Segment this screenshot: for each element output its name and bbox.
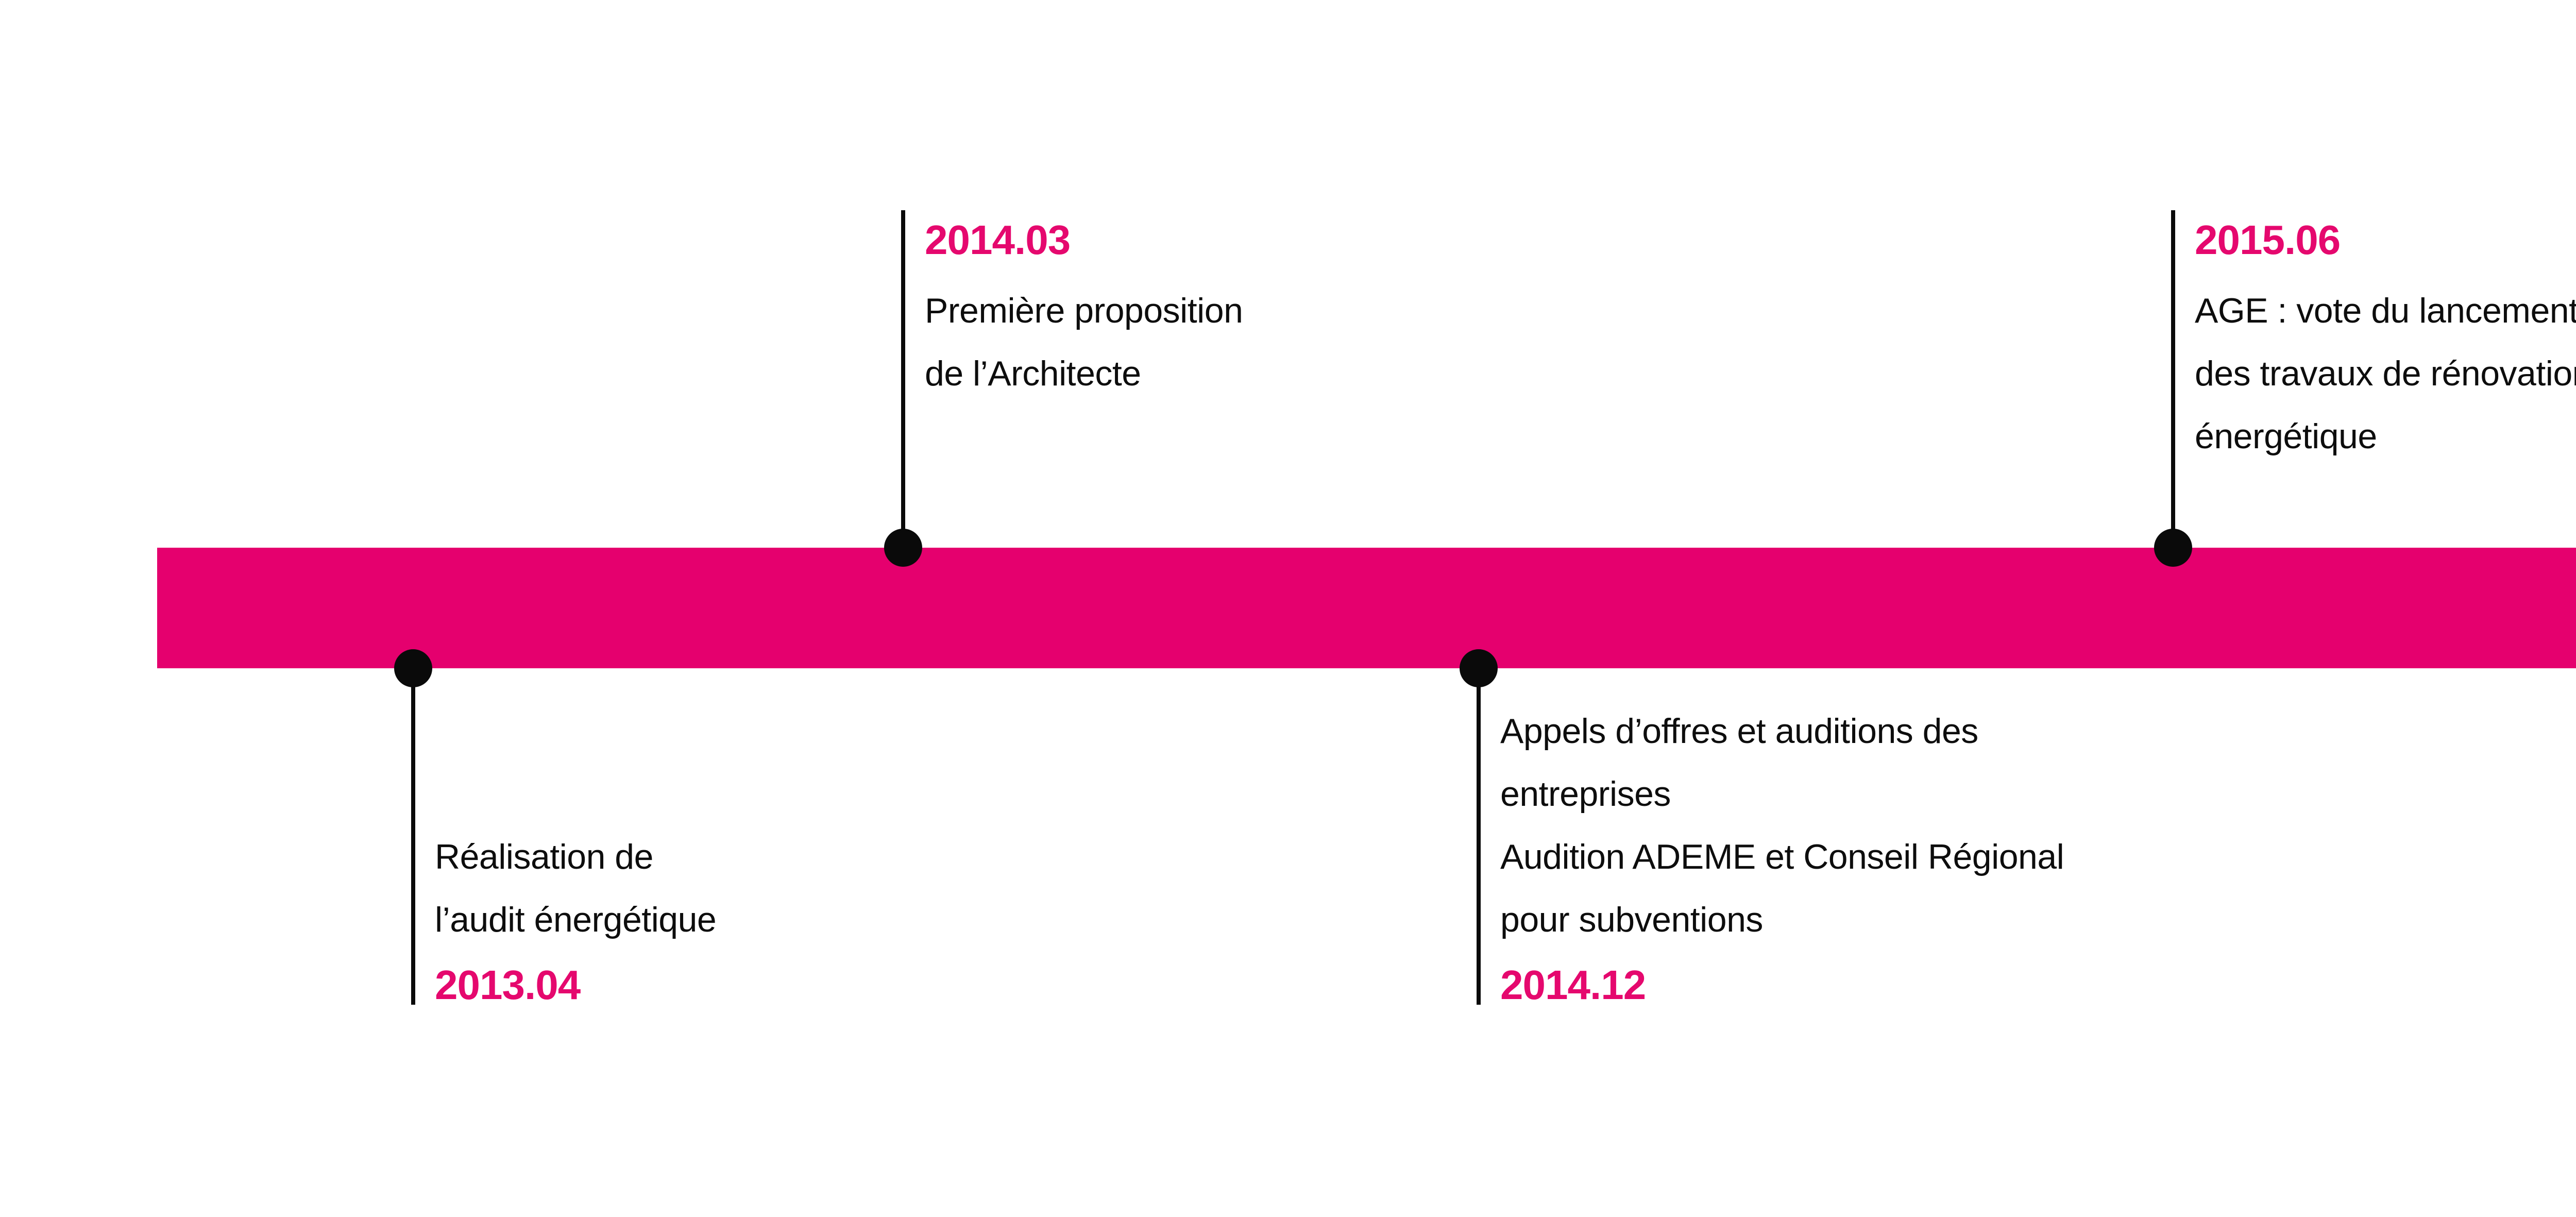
milestone-description: AGE : vote du lancementdes travaux de ré…: [2195, 279, 2576, 468]
milestone-description-line: de l’Architecte: [925, 342, 1243, 405]
milestone-callout: Réalisation del’audit énergétique2013.04: [435, 825, 716, 1010]
milestone-date: 2014.12: [1500, 960, 2064, 1010]
milestone-leader-line: [411, 668, 415, 1005]
milestone-date: 2014.03: [925, 215, 1243, 265]
milestone-date: 2013.04: [435, 960, 716, 1010]
milestone-dot[interactable]: [394, 649, 432, 687]
milestone-description: Appels d’offres et auditions desentrepri…: [1500, 700, 2064, 951]
milestone-leader-line: [1477, 668, 1481, 1005]
milestone-description-line: des travaux de rénovation: [2195, 342, 2576, 405]
milestone-dot[interactable]: [1460, 649, 1498, 687]
milestone-callout: 2015.06AGE : vote du lancementdes travau…: [2195, 215, 2576, 468]
milestone-description-line: l’audit énergétique: [435, 888, 716, 951]
timeline-diagram: Réalisation del’audit énergétique2013.04…: [0, 0, 2576, 1217]
milestone-dot[interactable]: [884, 529, 922, 567]
milestone-description-line: AGE : vote du lancement: [2195, 279, 2576, 342]
milestone-description-line: pour subventions: [1500, 888, 2064, 951]
milestone-description: Réalisation del’audit énergétique: [435, 825, 716, 951]
milestone-description-line: Réalisation de: [435, 825, 716, 888]
milestone-description-line: Première proposition: [925, 279, 1243, 342]
milestone-description: Première propositionde l’Architecte: [925, 279, 1243, 405]
milestone-leader-line: [901, 210, 905, 548]
milestone-description-line: Audition ADEME et Conseil Régional: [1500, 825, 2064, 888]
timeline-arrow-shape: [157, 533, 2576, 683]
milestone-description-line: Appels d’offres et auditions des: [1500, 700, 2064, 763]
timeline-arrow: [0, 0, 2576, 1217]
milestone-callout: 2014.03Première propositionde l’Architec…: [925, 215, 1243, 405]
milestone-callout: Appels d’offres et auditions desentrepri…: [1500, 700, 2064, 1010]
milestone-leader-line: [2171, 210, 2175, 548]
milestone-description-line: entreprises: [1500, 763, 2064, 825]
milestone-dot[interactable]: [2154, 529, 2192, 567]
milestone-date: 2015.06: [2195, 215, 2576, 265]
milestone-description-line: énergétique: [2195, 405, 2576, 468]
